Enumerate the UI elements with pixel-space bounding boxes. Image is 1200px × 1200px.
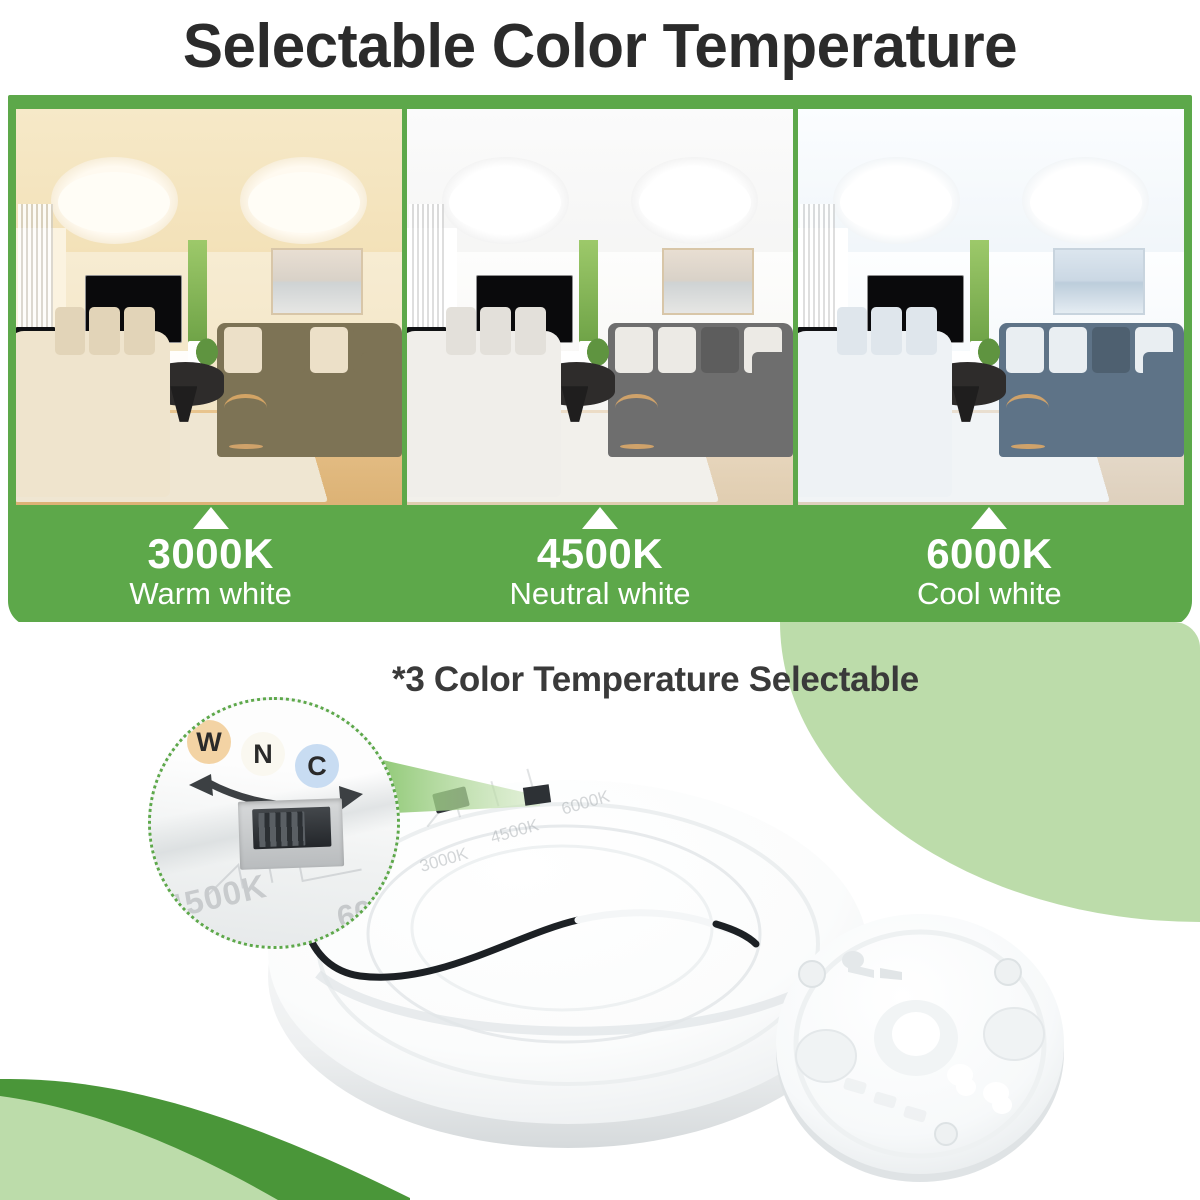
temperature-label-4500k: 4500K Neutral white [405, 505, 794, 615]
ceiling-light-icon [442, 157, 569, 244]
temperature-label-row: 3000K Warm white 4500K Neutral white 600… [16, 505, 1184, 615]
room-photo-6000k [798, 109, 1184, 505]
oval-recess [796, 1030, 856, 1082]
room-photo-4500k [407, 109, 793, 505]
cct-switch-housing[interactable] [238, 798, 344, 870]
kelvin-name: Cool white [917, 577, 1062, 611]
ceiling-light-icon [833, 157, 960, 244]
temperature-label-3000k: 3000K Warm white [16, 505, 405, 615]
mode-neutral-badge[interactable]: N [241, 732, 285, 776]
ceiling-light-icon [1022, 157, 1149, 244]
pointer-triangle-icon [193, 507, 229, 529]
pointer-triangle-icon [582, 507, 618, 529]
room-photo-row [16, 109, 1184, 505]
room-photo-3000k [16, 109, 402, 505]
cct-switch-slider[interactable] [252, 807, 331, 850]
color-temperature-comparison-panel: 3000K Warm white 4500K Neutral white 600… [8, 95, 1192, 627]
temperature-label-6000k: 6000K Cool white [795, 505, 1184, 615]
kelvin-value: 3000K [148, 533, 274, 576]
mode-warm-badge[interactable]: W [187, 720, 231, 764]
pointer-triangle-icon [971, 507, 1007, 529]
screw-boss [935, 1123, 957, 1145]
page-header: Selectable Color Temperature [0, 0, 1200, 92]
kelvin-name: Warm white [129, 577, 291, 611]
kelvin-name: Neutral white [510, 577, 691, 611]
center-conduit-hole [892, 1012, 940, 1056]
switch-magnifier-detail: 4500K 60 W N C [148, 697, 400, 949]
ceiling-light-icon [631, 157, 758, 244]
wall-art [662, 248, 755, 315]
ceiling-light-icon [240, 157, 367, 244]
kelvin-value: 4500K [537, 533, 663, 576]
ceiling-light-icon [51, 157, 178, 244]
wall-art [271, 248, 364, 315]
mounting-bracket-product [770, 906, 1070, 1182]
oval-recess [984, 1008, 1044, 1060]
screw-boss [799, 961, 825, 987]
product-subtitle: *3 Color Temperature Selectable [392, 660, 919, 700]
page-title: Selectable Color Temperature [183, 11, 1017, 82]
kelvin-value: 6000K [926, 533, 1052, 576]
wall-art [1053, 248, 1146, 315]
screw-boss [995, 959, 1021, 985]
switch-grip-teeth [258, 812, 305, 848]
